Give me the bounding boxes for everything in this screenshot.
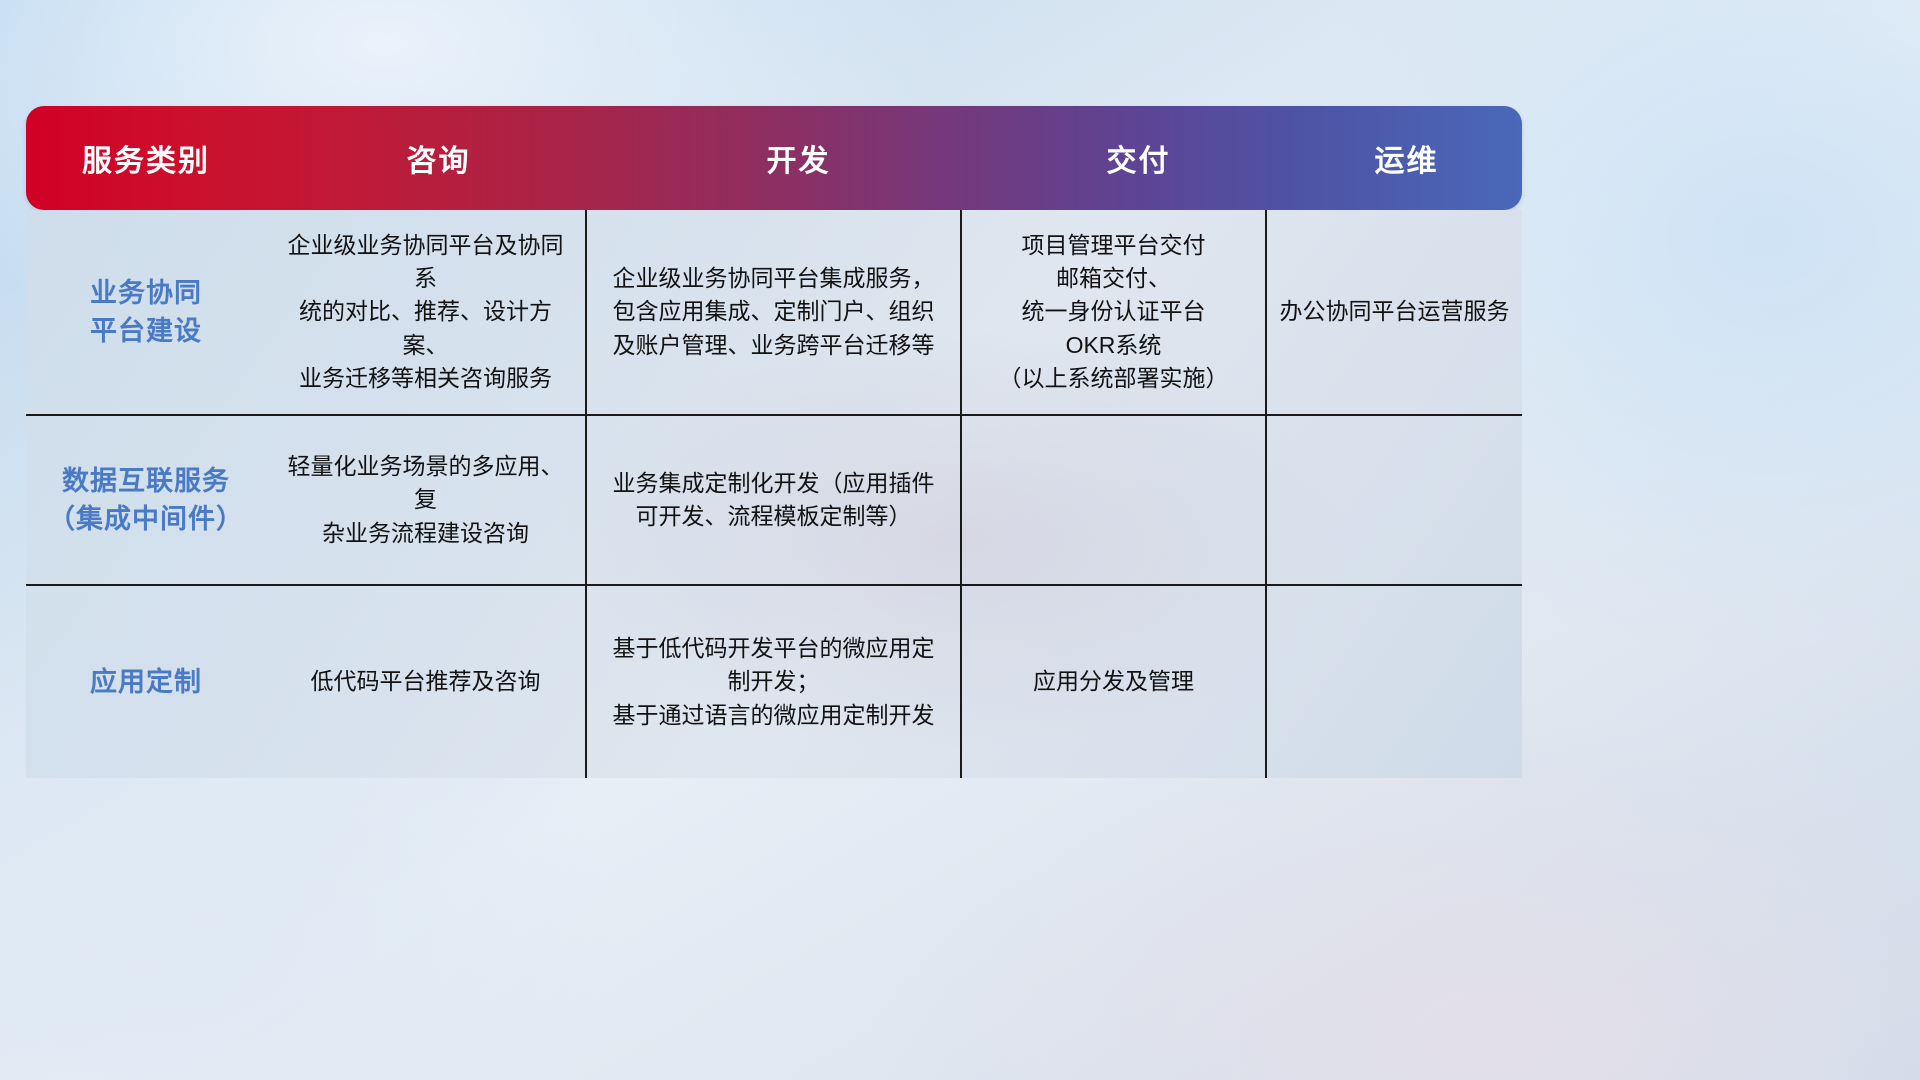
column-header-operations: 运维 <box>1291 106 1522 210</box>
cell-r3-development: 基于低代码开发平台的微应用定 制开发； 基于通过语言的微应用定制开发 <box>587 586 960 778</box>
table-body: 业务协同 平台建设 企业级业务协同平台及协同系 统的对比、推荐、设计方案、 业务… <box>26 210 1522 778</box>
cell-r1-consulting: 企业级业务协同平台及协同系 统的对比、推荐、设计方案、 业务迁移等相关咨询服务 <box>266 210 585 414</box>
row-label-business-collaboration: 业务协同 平台建设 <box>26 210 266 414</box>
table-header-row: 服务类别 咨询 开发 交付 运维 <box>26 106 1522 210</box>
cell-r1-development: 企业级业务协同平台集成服务， 包含应用集成、定制门户、组织 及账户管理、业务跨平… <box>587 210 960 414</box>
cell-r1-operations: 办公协同平台运营服务 <box>1267 210 1522 414</box>
cell-r2-delivery <box>962 416 1265 584</box>
cell-r3-delivery: 应用分发及管理 <box>962 586 1265 778</box>
column-header-consulting: 咨询 <box>266 106 611 210</box>
cell-r2-consulting: 轻量化业务场景的多应用、复 杂业务流程建设咨询 <box>266 416 585 584</box>
row-label-app-customization: 应用定制 <box>26 586 266 778</box>
cell-r3-consulting: 低代码平台推荐及咨询 <box>266 586 585 778</box>
cell-r2-development: 业务集成定制化开发（应用插件 可开发、流程模板定制等） <box>587 416 960 584</box>
column-header-category: 服务类别 <box>26 106 266 210</box>
column-header-development: 开发 <box>611 106 986 210</box>
cell-r1-delivery: 项目管理平台交付 邮箱交付、 统一身份认证平台 OKR系统 （以上系统部署实施） <box>962 210 1265 414</box>
row-label-data-integration: 数据互联服务 （集成中间件） <box>26 416 266 584</box>
column-header-delivery: 交付 <box>986 106 1291 210</box>
service-matrix-table: 服务类别 咨询 开发 交付 运维 业务协同 平台建设 企业级业务协同平台及协同系… <box>26 106 1522 778</box>
cell-r2-operations <box>1267 416 1522 584</box>
cell-r3-operations <box>1267 586 1522 778</box>
